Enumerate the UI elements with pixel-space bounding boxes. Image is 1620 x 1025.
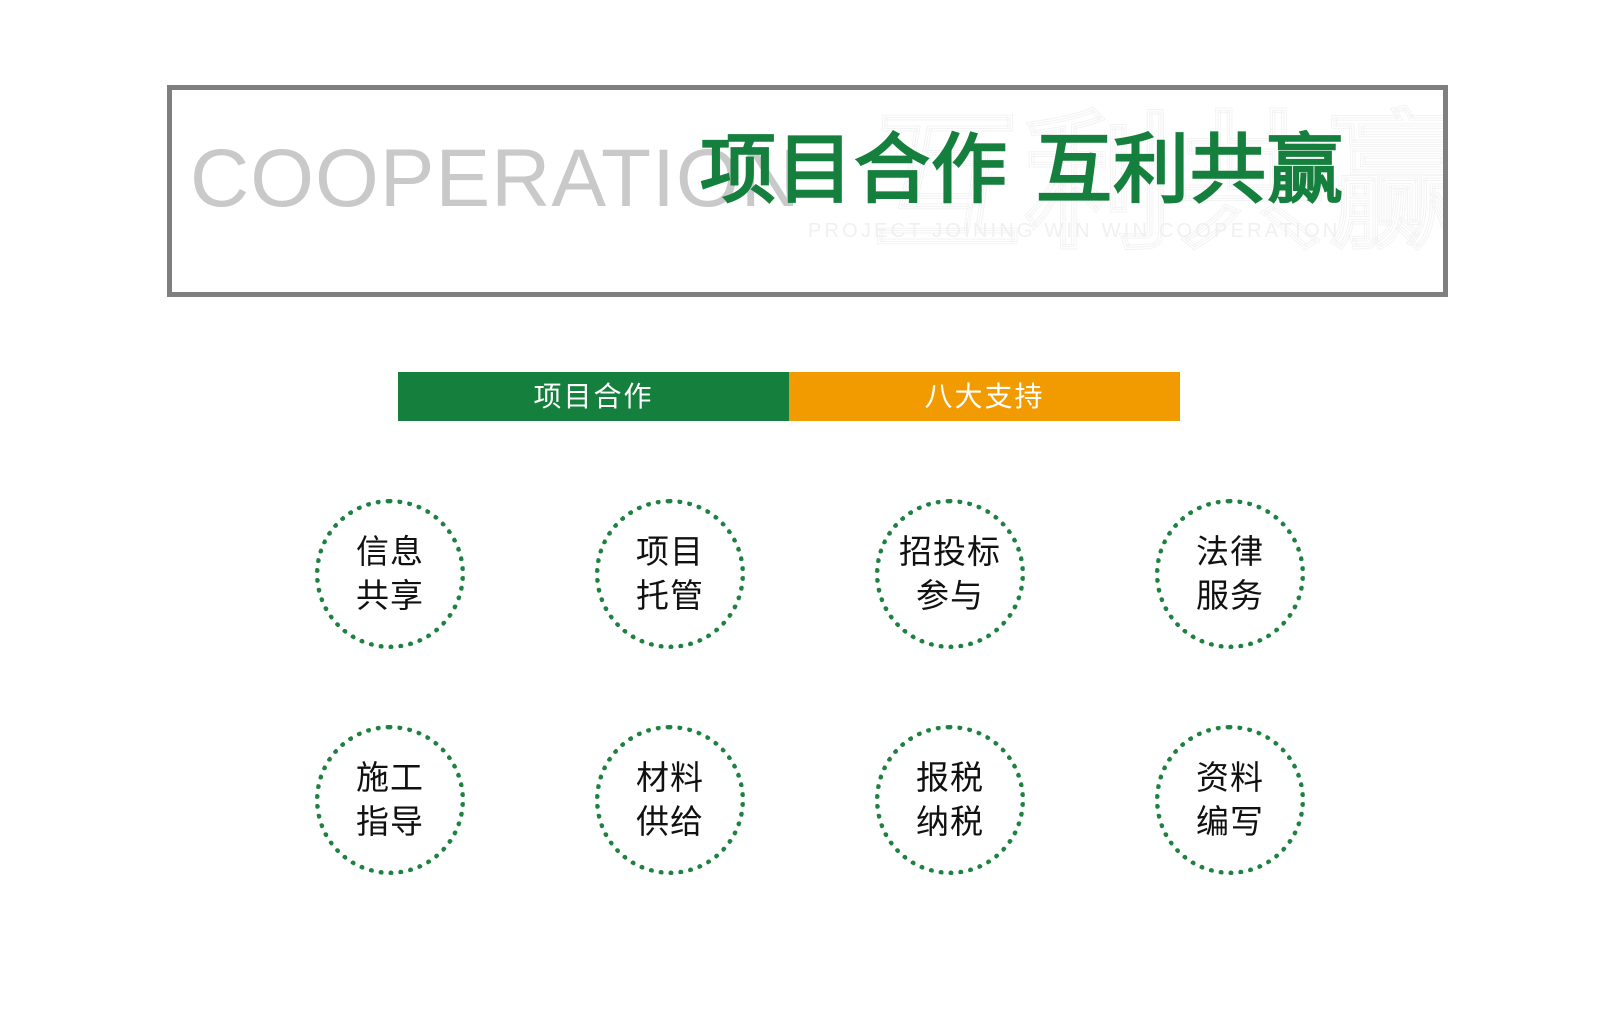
support-item-line-1: 材料	[636, 756, 704, 800]
support-item-line-2: 纳税	[916, 800, 984, 844]
support-item-project-trusteeship[interactable]: 项目 托管	[595, 499, 745, 649]
tab-project-cooperation-label: 项目合作	[533, 383, 653, 411]
support-cell: 项目 托管	[530, 492, 810, 656]
support-item-tax-filing[interactable]: 报税 纳税	[875, 725, 1025, 875]
support-item-line-1: 报税	[916, 756, 984, 800]
support-item-line-1: 招投标	[899, 530, 1001, 574]
support-item-info-sharing[interactable]: 信息 共享	[315, 499, 465, 649]
banner-title-part-1: 项目合作	[700, 128, 1008, 213]
tab-eight-supports[interactable]: 八大支持	[789, 372, 1180, 421]
support-cell: 信息 共享	[250, 492, 530, 656]
support-cell: 资料 编写	[1090, 718, 1370, 882]
tab-project-cooperation[interactable]: 项目合作	[398, 372, 789, 421]
banner-title-cn: 项目合作互利共赢	[700, 125, 1344, 218]
support-item-line-2: 共享	[356, 574, 424, 618]
support-item-line-2: 编写	[1196, 800, 1264, 844]
banner-title-part-2: 互利共赢	[1036, 128, 1344, 213]
support-item-document-writing[interactable]: 资料 编写	[1155, 725, 1305, 875]
tab-bar: 项目合作 八大支持	[398, 372, 1180, 421]
support-item-line-1: 资料	[1196, 756, 1264, 800]
header-banner-inner: 互利共赢 COOPERATION 项目合作互利共赢 PROJECT JOININ…	[172, 90, 1443, 292]
support-items-row-2: 施工 指导 材料 供给 报税 纳税 资料 编写	[250, 718, 1370, 882]
support-cell: 招投标 参与	[810, 492, 1090, 656]
support-item-construction-guidance[interactable]: 施工 指导	[315, 725, 465, 875]
support-item-line-1: 施工	[356, 756, 424, 800]
banner-subtitle-en: PROJECT JOINING WIN WIN COOPERATION	[808, 220, 1340, 243]
header-banner: 互利共赢 COOPERATION 项目合作互利共赢 PROJECT JOININ…	[167, 85, 1448, 297]
support-item-line-1: 信息	[356, 530, 424, 574]
support-cell: 材料 供给	[530, 718, 810, 882]
support-item-line-2: 供给	[636, 800, 704, 844]
support-item-line-1: 法律	[1196, 530, 1264, 574]
support-item-line-2: 服务	[1196, 574, 1264, 618]
support-items-grid: 信息 共享 项目 托管 招投标 参与 法律 服务 施工	[250, 492, 1370, 912]
support-cell: 报税 纳税	[810, 718, 1090, 882]
support-item-line-2: 参与	[916, 574, 984, 618]
support-item-line-1: 项目	[636, 530, 704, 574]
support-item-bidding-participation[interactable]: 招投标 参与	[875, 499, 1025, 649]
support-item-legal-service[interactable]: 法律 服务	[1155, 499, 1305, 649]
support-cell: 法律 服务	[1090, 492, 1370, 656]
support-item-material-supply[interactable]: 材料 供给	[595, 725, 745, 875]
support-cell: 施工 指导	[250, 718, 530, 882]
tab-eight-supports-label: 八大支持	[924, 383, 1044, 411]
support-items-row-1: 信息 共享 项目 托管 招投标 参与 法律 服务	[250, 492, 1370, 656]
support-item-line-2: 指导	[356, 800, 424, 844]
support-item-line-2: 托管	[636, 574, 704, 618]
